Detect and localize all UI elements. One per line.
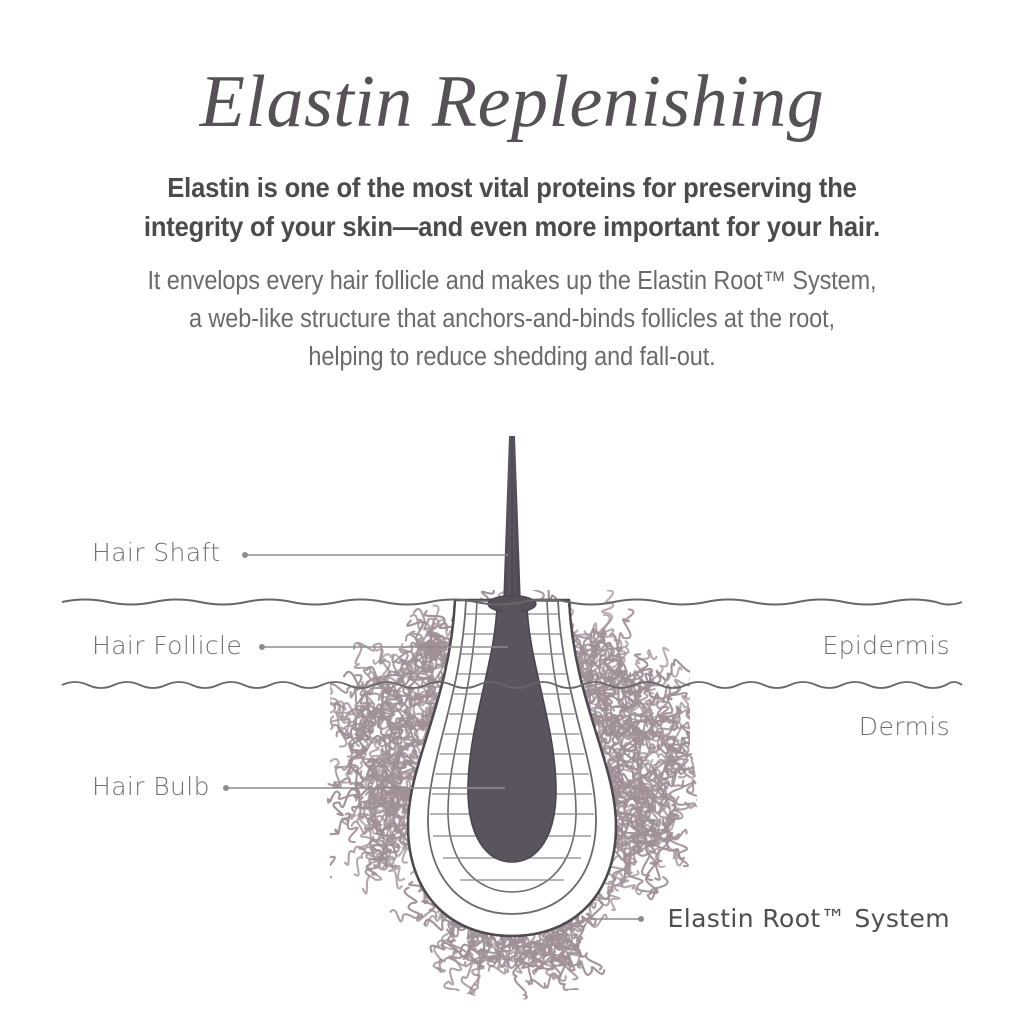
hair-follicle-leader-dot bbox=[259, 644, 265, 650]
elastin-strand bbox=[433, 606, 450, 636]
elastin-strand bbox=[302, 757, 350, 774]
elastin-root-leader-dot bbox=[638, 916, 644, 922]
hair-bulb-leader-dot bbox=[223, 785, 229, 791]
hair-shaft-leader-dot bbox=[242, 552, 248, 558]
elastin-strand bbox=[322, 819, 348, 878]
hair-follicle-diagram bbox=[0, 0, 1024, 1024]
label-hair-shaft: Hair Shaft bbox=[92, 538, 221, 567]
label-dermis: Dermis bbox=[859, 712, 950, 741]
label-hair-bulb: Hair Bulb bbox=[92, 772, 210, 801]
elastin-strand bbox=[320, 792, 356, 807]
label-hair-follicle: Hair Follicle bbox=[92, 631, 242, 660]
poster-canvas: Elastin Replenishing Elastin is one of t… bbox=[0, 0, 1024, 1024]
label-epidermis: Epidermis bbox=[822, 631, 950, 660]
elastin-strand bbox=[676, 785, 733, 809]
label-elastin-root-system: Elastin Root™ System bbox=[668, 904, 950, 933]
